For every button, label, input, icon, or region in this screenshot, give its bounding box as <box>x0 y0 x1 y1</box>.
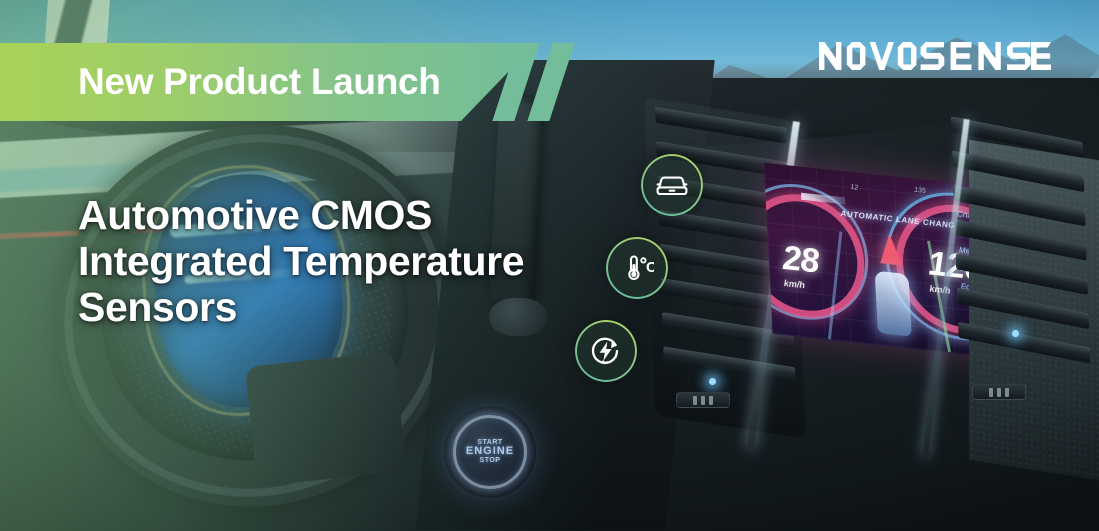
page-title: Automotive CMOS Integrated Temperature S… <box>78 192 698 330</box>
headline-line-1: Automotive CMOS <box>78 192 698 238</box>
ribbon-label: New Product Launch <box>0 61 441 103</box>
badge-temperature: C <box>606 237 668 299</box>
cluster-left-readout: 28 km/h <box>782 239 820 292</box>
cluster-navigation-arrow <box>879 233 903 266</box>
novosense-logo[interactable] <box>819 41 1051 71</box>
ambient-led-right <box>1012 330 1019 337</box>
vent-slat <box>954 219 1086 261</box>
vent-slat <box>952 150 1084 192</box>
vent-slat <box>957 287 1089 329</box>
engine-button-stop-text: STOP <box>480 457 501 464</box>
ambient-led-left <box>709 378 716 385</box>
console-button-strip-right[interactable] <box>972 384 1026 400</box>
steering-wheel-spoke <box>245 351 407 486</box>
engine-button-label: START ENGINE STOP <box>466 439 514 465</box>
cluster-ego-vehicle <box>875 271 912 337</box>
gauge-bolt-icon <box>590 335 622 367</box>
thermometer-celsius-icon: C <box>620 253 654 283</box>
car-icon <box>655 172 689 198</box>
badge-automotive-grade <box>641 154 703 216</box>
vent-slat <box>958 322 1090 364</box>
badge-fast-response <box>575 320 637 382</box>
engine-start-stop-button[interactable]: START ENGINE STOP <box>444 406 536 498</box>
vent-slat <box>956 253 1088 295</box>
console-button-strip-left[interactable] <box>676 392 730 408</box>
cluster-left-value: 28 <box>782 239 820 282</box>
product-launch-banner: START ENGINE STOP 12 1 <box>0 0 1099 531</box>
cluster-tick-right: 135 <box>914 187 926 195</box>
vent-slat <box>953 185 1085 227</box>
ribbon-banner: New Product Launch <box>0 43 536 121</box>
engine-button-engine-text: ENGINE <box>466 445 514 457</box>
svg-text:C: C <box>646 259 654 276</box>
headline-line-2: Integrated Temperature <box>78 238 698 284</box>
cluster-tick-left: 12 <box>850 184 858 192</box>
